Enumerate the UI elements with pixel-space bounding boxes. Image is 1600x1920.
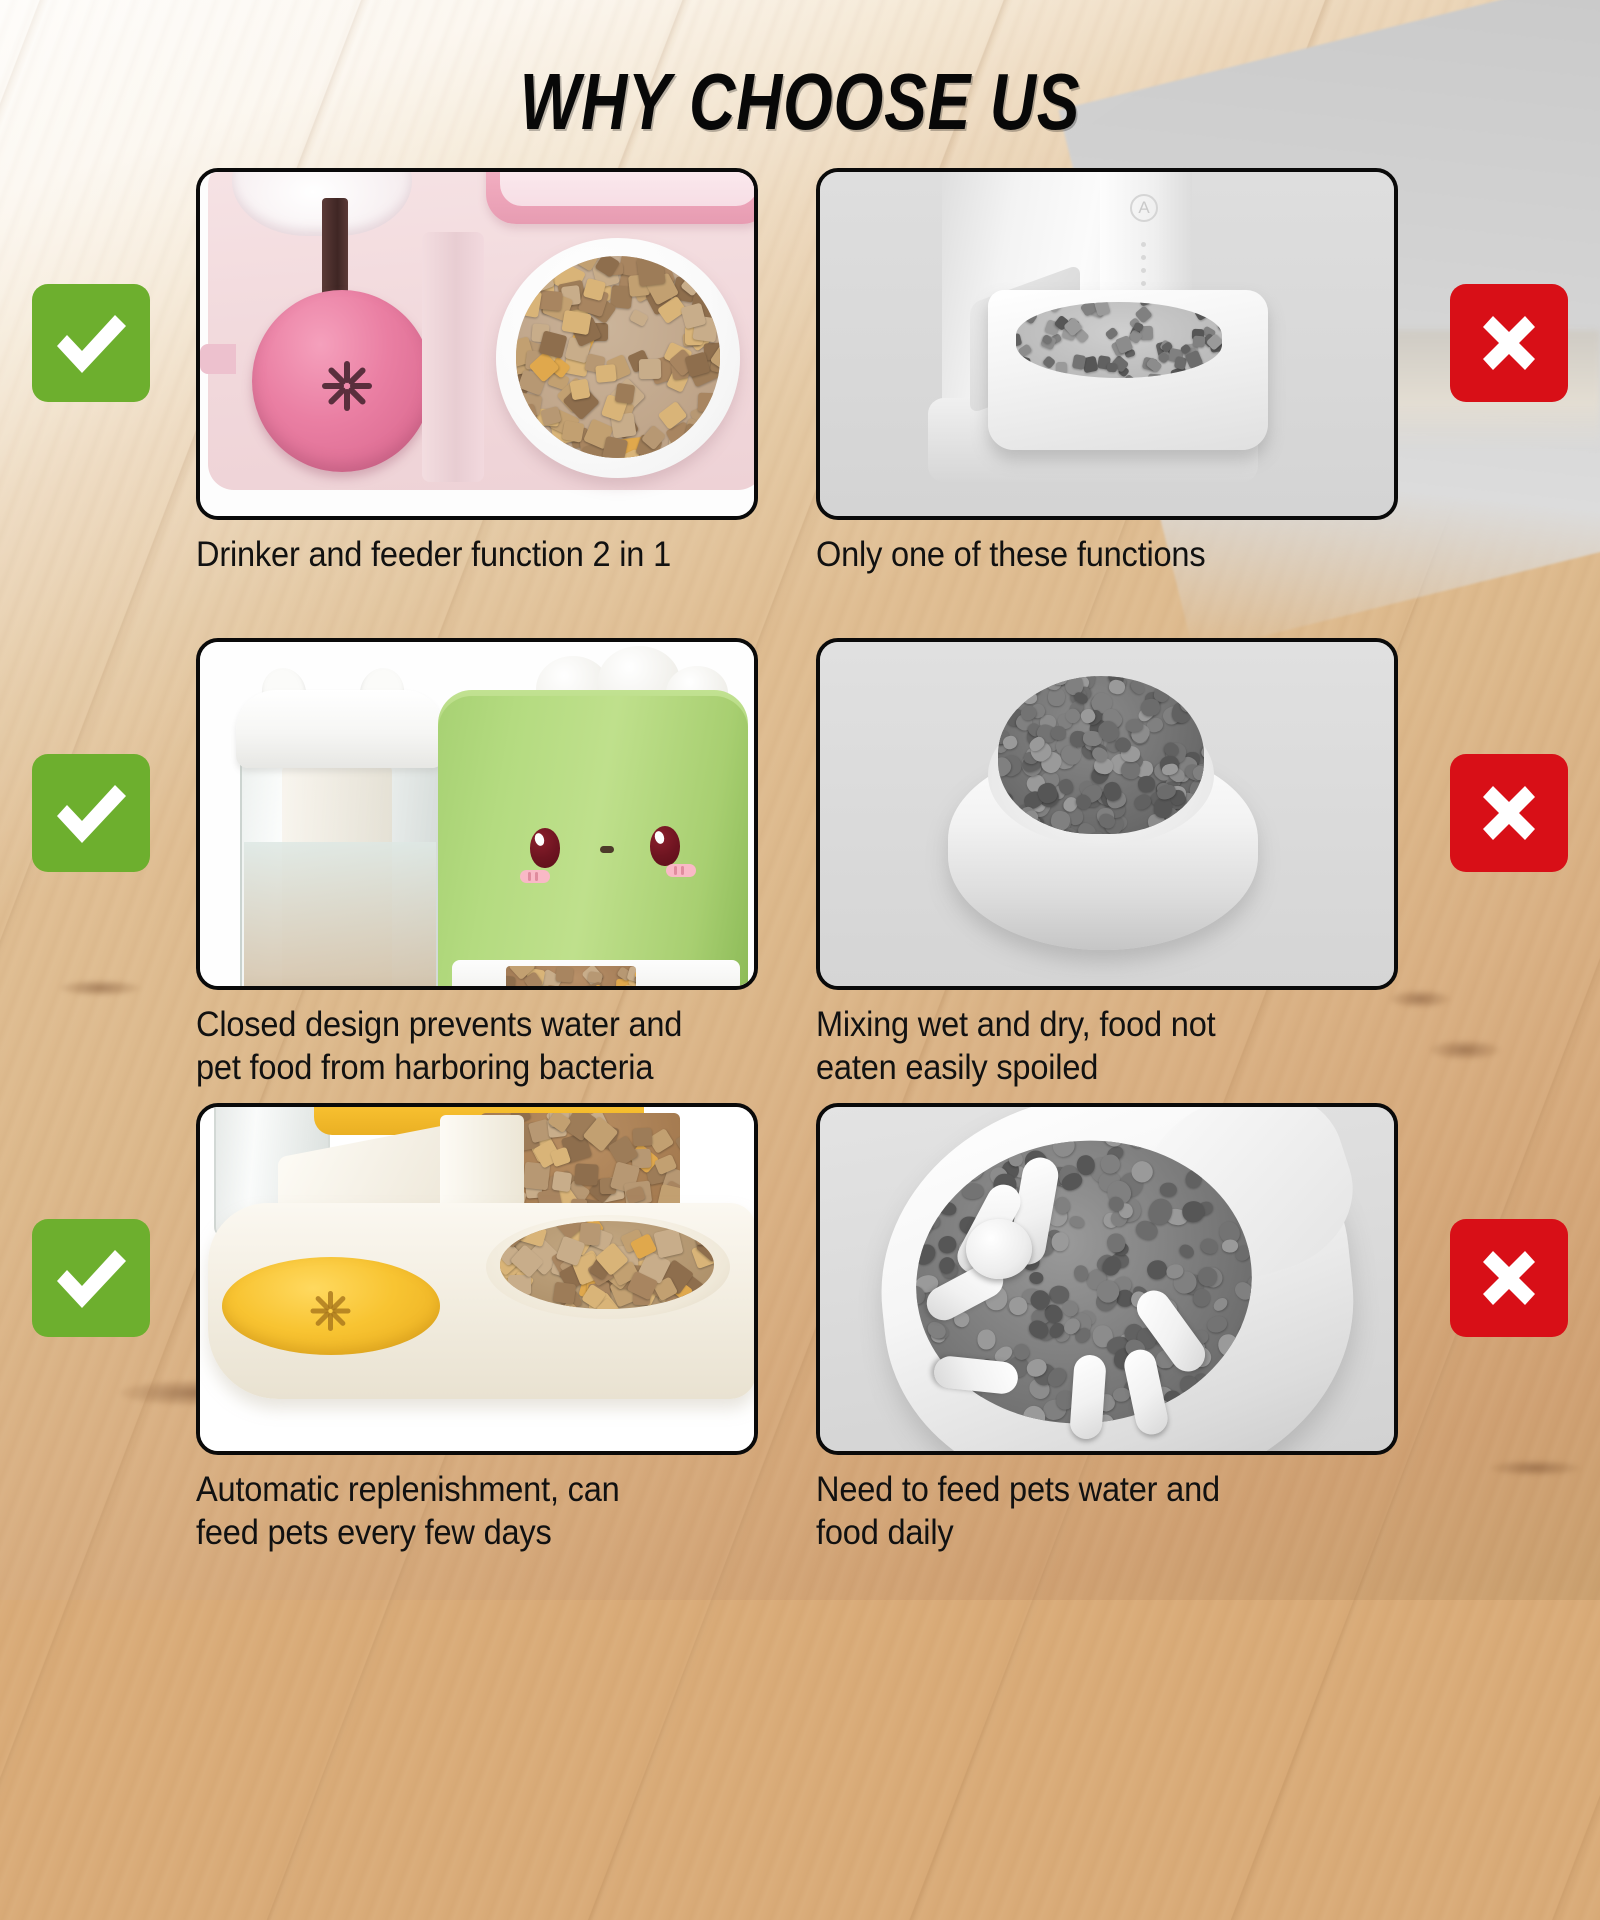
kibble-piece (538, 290, 563, 311)
kibble-piece (1198, 1236, 1219, 1255)
cross-badge-row3 (1450, 1219, 1568, 1337)
food-bowl-kibble (516, 256, 720, 458)
dish-lip (200, 344, 236, 374)
cons-caption-row3: Need to feed pets water and food daily (816, 1469, 1357, 1554)
kibble-piece (516, 288, 542, 318)
food-outlet-slot (506, 966, 636, 990)
kibble-piece (539, 330, 568, 358)
cons-caption-row1: Only one of these functions (816, 534, 1357, 577)
kibble-piece (1137, 775, 1156, 793)
kibble-piece (1016, 333, 1023, 347)
cat-eye-right-icon (650, 826, 680, 866)
pros-cell-row3: Automatic replenishment, can feed pets e… (196, 1103, 758, 1554)
pros-caption-row2: Closed design prevents water and pet foo… (196, 1004, 719, 1089)
pros-photo-row1 (196, 168, 758, 520)
cons-photo-row2 (816, 638, 1398, 990)
kibble-piece (561, 421, 584, 443)
cross-icon (1469, 773, 1549, 853)
cons-cell-row3: Need to feed pets water and food daily (816, 1103, 1398, 1554)
kibble-piece (1193, 335, 1205, 347)
comparison-row: Closed design prevents water and pet foo… (0, 638, 1600, 1103)
pros-caption-row1: Drinker and feeder function 2 in 1 (196, 534, 719, 577)
kibble-piece (938, 1200, 958, 1217)
cross-icon (1469, 303, 1549, 383)
cross-badge-row2 (1450, 754, 1568, 872)
kibble-piece (1160, 1183, 1177, 1198)
pros-cell-row1: Drinker and feeder function 2 in 1 (196, 168, 758, 577)
bottle-water-level (244, 842, 436, 990)
kibble-piece (625, 989, 636, 990)
kibble-piece (1041, 356, 1055, 370)
kibble-piece (1045, 302, 1065, 313)
bowl-kibble (998, 676, 1204, 834)
kibble-piece (632, 1128, 652, 1147)
kibble-piece (570, 378, 591, 400)
kibble-piece (1177, 1242, 1196, 1260)
kibble-piece (1112, 1387, 1131, 1403)
kibble-piece (545, 984, 564, 990)
kibble-piece (1211, 1295, 1230, 1313)
kibble-piece (561, 310, 591, 335)
comparison-grid: Drinker and feeder function 2 in 1 A Onl… (0, 168, 1600, 1573)
kibble-piece (629, 309, 649, 327)
pink-lid-inner (500, 168, 758, 206)
cons-cell-row2: Mixing wet and dry, food not eaten easil… (816, 638, 1398, 1089)
comparison-row: Automatic replenishment, can feed pets e… (0, 1103, 1600, 1573)
cross-badge-row1 (1450, 284, 1568, 402)
kibble-piece (653, 1228, 683, 1259)
kibble-piece (595, 364, 617, 383)
food-bowl-kibble (500, 1221, 714, 1309)
kibble-piece (1206, 1314, 1230, 1335)
cons-caption-row2: Mixing wet and dry, food not eaten easil… (816, 1004, 1357, 1089)
kibble-piece (636, 256, 666, 286)
water-stem (322, 198, 348, 298)
kibble-piece (639, 358, 661, 379)
pros-photo-row3 (196, 1103, 758, 1455)
check-icon (49, 301, 133, 385)
cons-cell-row1: A Only one of these functions (816, 168, 1398, 577)
kibble-piece (602, 436, 628, 458)
kibble-piece (978, 1330, 996, 1350)
check-badge-row1 (32, 284, 150, 402)
page-title: WHY CHOOSE US (160, 56, 1440, 148)
bottle-cap (236, 690, 444, 768)
feeder-tray-kibble (1016, 302, 1222, 378)
kibble-piece (675, 1127, 680, 1157)
cat-eye-left-icon (530, 828, 560, 868)
kibble-piece (614, 383, 635, 404)
kibble-piece (962, 1183, 985, 1200)
tray-divider (422, 232, 484, 482)
kibble-piece (574, 1163, 598, 1185)
cat-blush-right-icon (666, 864, 696, 877)
cat-blush-left-icon (520, 870, 550, 883)
kibble-piece (506, 976, 515, 990)
cat-nose-icon (600, 846, 614, 853)
pros-photo-row2 (196, 638, 758, 990)
kibble-piece (1069, 1215, 1087, 1230)
kibble-piece (697, 393, 719, 413)
slow-feeder-center-dome (966, 1219, 1032, 1279)
kibble-piece (1047, 688, 1064, 707)
cons-photo-row1: A (816, 168, 1398, 520)
kibble-piece (1056, 362, 1067, 374)
power-button-icon: A (1130, 194, 1158, 222)
kibble-piece (1219, 372, 1222, 378)
check-badge-row3 (32, 1219, 150, 1337)
pros-caption-row3: Automatic replenishment, can feed pets e… (196, 1469, 719, 1554)
slow-feeder-nub (1069, 1354, 1107, 1440)
check-icon (49, 1236, 133, 1320)
kibble-piece (555, 967, 573, 983)
check-icon (49, 771, 133, 855)
kibble-piece (1051, 676, 1067, 685)
kibble-piece (1147, 374, 1162, 378)
cons-photo-row3 (816, 1103, 1398, 1455)
kibble-piece (1107, 362, 1118, 372)
cross-icon (1469, 1238, 1549, 1318)
kibble-piece (1022, 691, 1037, 704)
kibble-piece (936, 1233, 959, 1255)
check-badge-row2 (32, 754, 150, 872)
kibble-piece (1221, 1239, 1238, 1253)
kibble-piece (551, 1171, 571, 1192)
kibble-piece (1029, 1272, 1043, 1285)
comparison-row: Drinker and feeder function 2 in 1 A Onl… (0, 168, 1600, 638)
kibble-piece (1132, 792, 1153, 812)
kibble-piece (507, 1275, 530, 1295)
pros-cell-row2: Closed design prevents water and pet foo… (196, 638, 758, 1089)
water-vent-star-icon (304, 1289, 356, 1333)
kibble-piece (1051, 1231, 1071, 1252)
water-vent-star-icon (318, 357, 376, 415)
kibble-piece (553, 1281, 576, 1304)
green-container-body (438, 696, 748, 990)
